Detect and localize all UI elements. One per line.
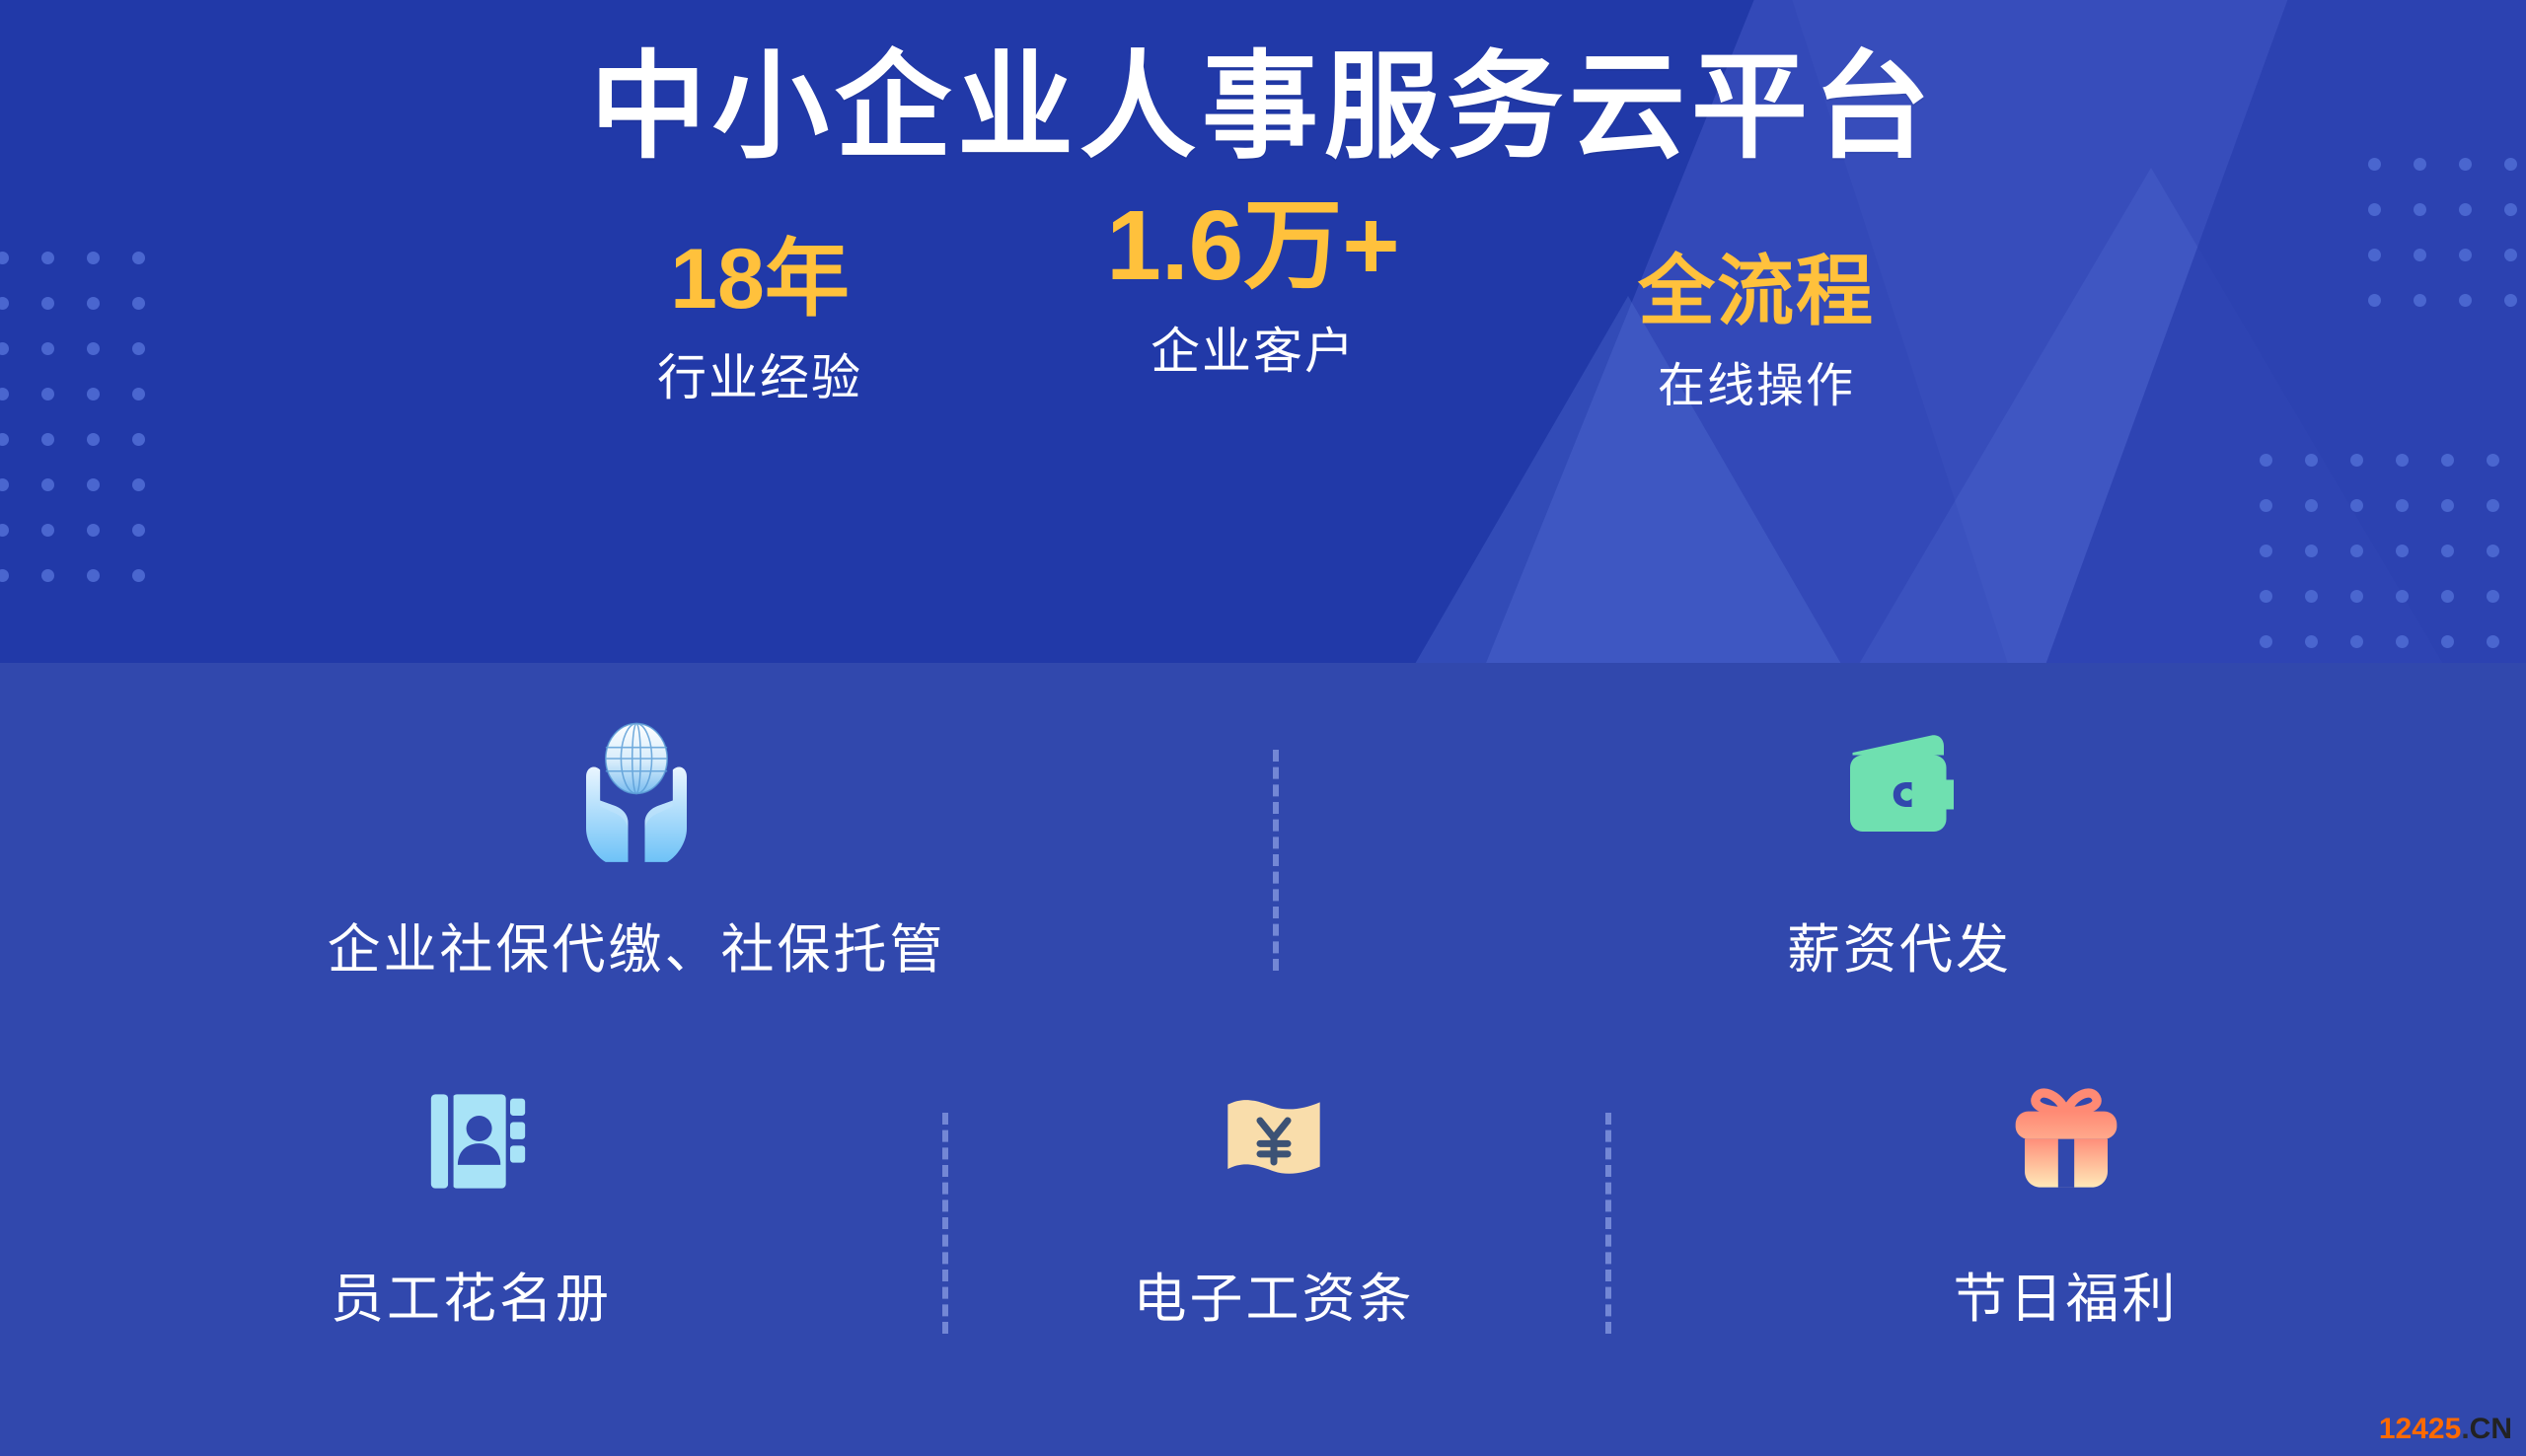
watermark-number: 12425 [2379,1413,2461,1445]
decorative-dot [2305,590,2318,603]
decorative-dot [2350,635,2363,648]
stat-item-experience: 18年 行业经验 [523,235,997,409]
decorative-dot [2396,499,2409,512]
decorative-dot [2441,545,2454,557]
decorative-dot [2350,545,2363,557]
stat-caption: 在线操作 [1510,346,2003,415]
decorative-dot [2305,499,2318,512]
watermark-dot: . [2461,1413,2469,1445]
hero-section: 中小企业人事服务云平台 18年 行业经验 1.6万+ 企业客户 全流程 在线操作 [0,0,2526,663]
decorative-dot [2350,499,2363,512]
stat-value: 全流程 [1510,251,2003,332]
decorative-dot [2260,454,2272,467]
decorative-dot [2305,454,2318,467]
feature-label: 电子工资条 [1134,1255,1415,1333]
stat-value: 18年 [523,235,997,325]
decorative-dot [2260,499,2272,512]
stat-caption: 行业经验 [523,338,997,409]
stat-value: 1.6万+ [997,193,1510,298]
feature-label: 员工花名册 [331,1255,612,1333]
feature-holiday-benefits[interactable]: 节日福利 [1605,1057,2526,1333]
decorative-dot [2396,545,2409,557]
page-title: 中小企业人事服务云平台 [0,41,2526,176]
wallet-icon [1825,708,1973,876]
stat-item-process: 全流程 在线操作 [1510,251,2003,415]
decorative-dot [2487,635,2499,648]
feature-label: 薪资代发 [1787,906,2012,983]
yen-payslip-banner-icon [1205,1057,1343,1225]
feature-employee-roster[interactable]: 员工花名册 [0,1057,942,1333]
features-section: 企业社保代缴、社保托管 薪资代发 [0,663,2526,1456]
decorative-dot [2305,545,2318,557]
feature-label: 企业社保代缴、社保托管 [328,906,946,983]
decorative-dot [2487,590,2499,603]
decorative-dot [2396,454,2409,467]
feature-label: 节日福利 [1954,1255,2179,1333]
decorative-dot [2396,590,2409,603]
decorative-dot [2441,635,2454,648]
decorative-dot [2260,590,2272,603]
decorative-dot [2487,454,2499,467]
gift-box-icon [1997,1057,2135,1225]
decorative-dot [2350,590,2363,603]
decorative-dot [2305,635,2318,648]
decorative-dot [2487,545,2499,557]
stats-row: 18年 行业经验 1.6万+ 企业客户 全流程 在线操作 [0,193,2526,415]
decorative-dot [2260,635,2272,648]
stat-item-clients: 1.6万+ 企业客户 [997,193,1510,383]
feature-payroll-agency[interactable]: 薪资代发 [1273,708,2526,983]
features-row-1: 企业社保代缴、社保托管 薪资代发 [0,708,2526,983]
decorative-dot [2487,499,2499,512]
decorative-dot [2350,454,2363,467]
decorative-dot [2260,545,2272,557]
decorative-dot [2441,454,2454,467]
promo-banner: 中小企业人事服务云平台 18年 行业经验 1.6万+ 企业客户 全流程 在线操作 [0,0,2526,1456]
decorative-dot [2396,635,2409,648]
stat-caption: 企业客户 [997,312,1510,383]
decorative-dot [2441,499,2454,512]
hands-holding-globe-icon [553,708,720,876]
address-book-icon [408,1057,536,1225]
decorative-dot [2441,590,2454,603]
features-row-2: 员工花名册 电子工资条 [0,1057,2526,1333]
watermark-suffix: CN [2470,1413,2512,1445]
site-watermark: 12425.CN [2379,1413,2512,1446]
feature-e-payslip[interactable]: 电子工资条 [942,1057,1605,1333]
feature-social-insurance[interactable]: 企业社保代缴、社保托管 [0,708,1273,983]
